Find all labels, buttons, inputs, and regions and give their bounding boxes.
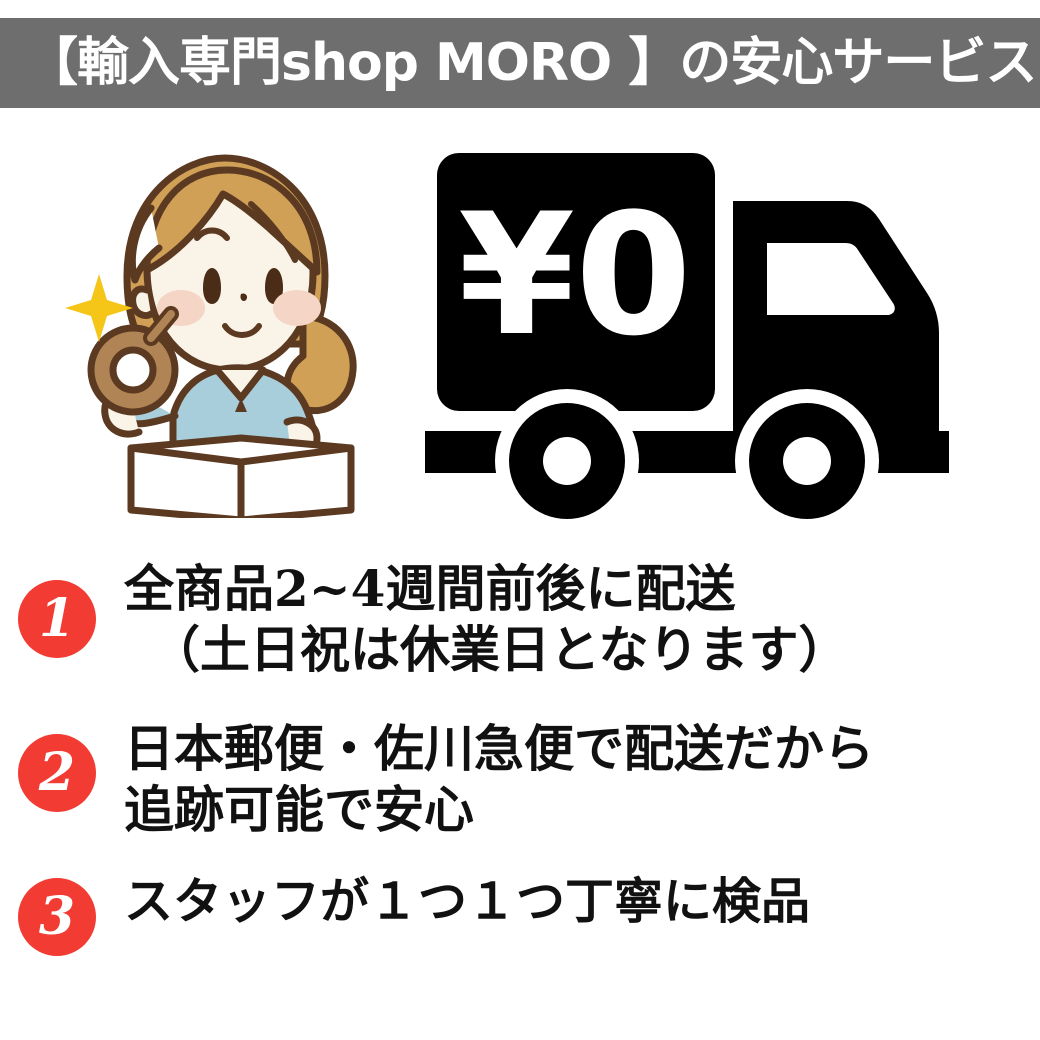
magnifier-lens [113,350,153,390]
right-blush [273,290,321,326]
header-banner: 【輸入専門shop MORO 】の安心サービス [0,18,1040,108]
staff-inspecting-package-illustration [55,148,395,518]
truck-illustration-svg: ¥0 [415,143,1015,523]
feature-item-1: 1 全商品2~4週間前後に配送 （土日祝は休業日となります） [0,558,1040,680]
badge-number-2: 2 [18,734,96,812]
left-eye [203,268,221,304]
feature-item-3: 3 スタッフが１つ１つ丁寧に検品 [0,872,1040,956]
feature-2-line-1: 日本郵便・佐川急便で配送だから [124,718,874,779]
staff-illustration-svg [55,148,395,518]
badge-number-1: 1 [18,580,96,658]
page-title: 【輸入専門shop MORO 】の安心サービス [26,37,1036,89]
feature-text-1: 全商品2~4週間前後に配送 （土日祝は休業日となります） [124,558,849,680]
feature-text-3: スタッフが１つ１つ丁寧に検品 [124,872,810,932]
feature-1-line-1: 全商品2~4週間前後に配送 [124,558,849,619]
feature-text-2: 日本郵便・佐川急便で配送だから 追跡可能で安心 [124,718,874,840]
feature-3-line-1: スタッフが１つ１つ丁寧に検品 [124,872,810,932]
free-shipping-truck-illustration: ¥0 [415,143,1015,523]
badge-number-3: 3 [18,878,96,956]
illustration-row: ¥0 [0,118,1040,538]
feature-item-2: 2 日本郵便・佐川急便で配送だから 追跡可能で安心 [0,718,1040,840]
truck-cargo-label: ¥0 [458,177,692,373]
feature-1-line-2: （土日祝は休業日となります） [124,619,849,680]
feature-2-line-2: 追跡可能で安心 [124,779,874,840]
feature-list: 1 全商品2~4週間前後に配送 （土日祝は休業日となります） 2 日本郵便・佐川… [0,548,1040,956]
